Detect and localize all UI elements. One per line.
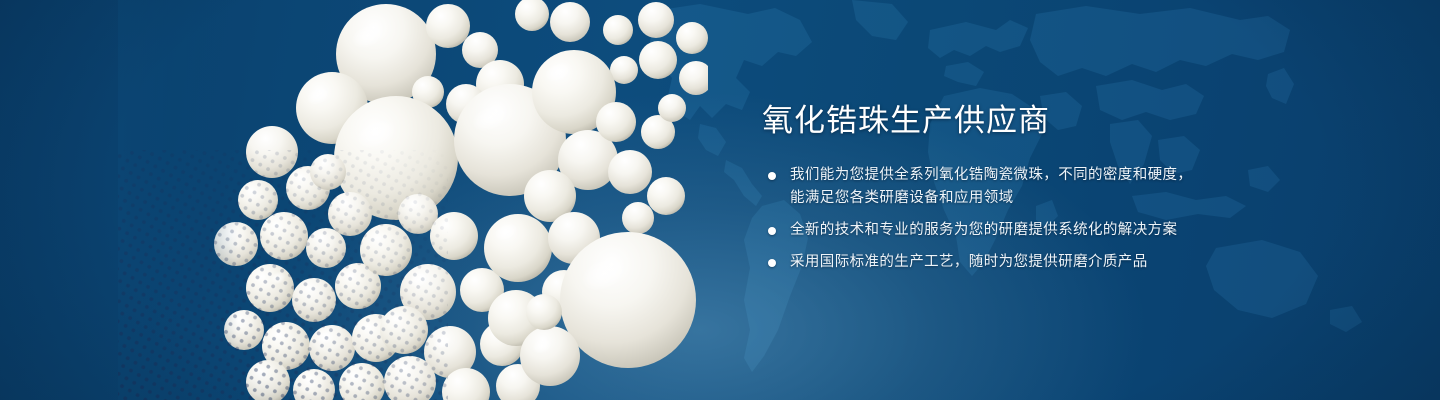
- list-item: 全新的技术和专业的服务为您的研磨提供系统化的解决方案: [762, 219, 1322, 242]
- bullet-dot-icon: [768, 172, 776, 180]
- feature-list: 我们能为您提供全系列氧化锆陶瓷微珠，不同的密度和硬度， 能满足您各类研磨设备和应…: [762, 164, 1322, 274]
- bullet-dot-icon: [768, 259, 776, 267]
- bullet-dot-icon: [768, 227, 776, 235]
- list-item: 我们能为您提供全系列氧化锆陶瓷微珠，不同的密度和硬度， 能满足您各类研磨设备和应…: [762, 164, 1322, 210]
- list-item: 采用国际标准的生产工艺，随时为您提供研磨介质产品: [762, 251, 1322, 274]
- banner-copy: 氧化锆珠生产供应商 我们能为您提供全系列氧化锆陶瓷微珠，不同的密度和硬度， 能满…: [762, 104, 1322, 274]
- list-item-line: 能满足您各类研磨设备和应用领域: [790, 187, 1322, 210]
- list-item-line: 采用国际标准的生产工艺，随时为您提供研磨介质产品: [790, 251, 1322, 274]
- hero-banner: 氧化锆珠生产供应商 我们能为您提供全系列氧化锆陶瓷微珠，不同的密度和硬度， 能满…: [0, 0, 1440, 400]
- page-title: 氧化锆珠生产供应商: [762, 104, 1322, 138]
- list-item-line: 全新的技术和专业的服务为您的研磨提供系统化的解决方案: [790, 219, 1322, 242]
- list-item-line: 我们能为您提供全系列氧化锆陶瓷微珠，不同的密度和硬度，: [790, 164, 1322, 187]
- zirconia-beads-photo: [118, 0, 708, 400]
